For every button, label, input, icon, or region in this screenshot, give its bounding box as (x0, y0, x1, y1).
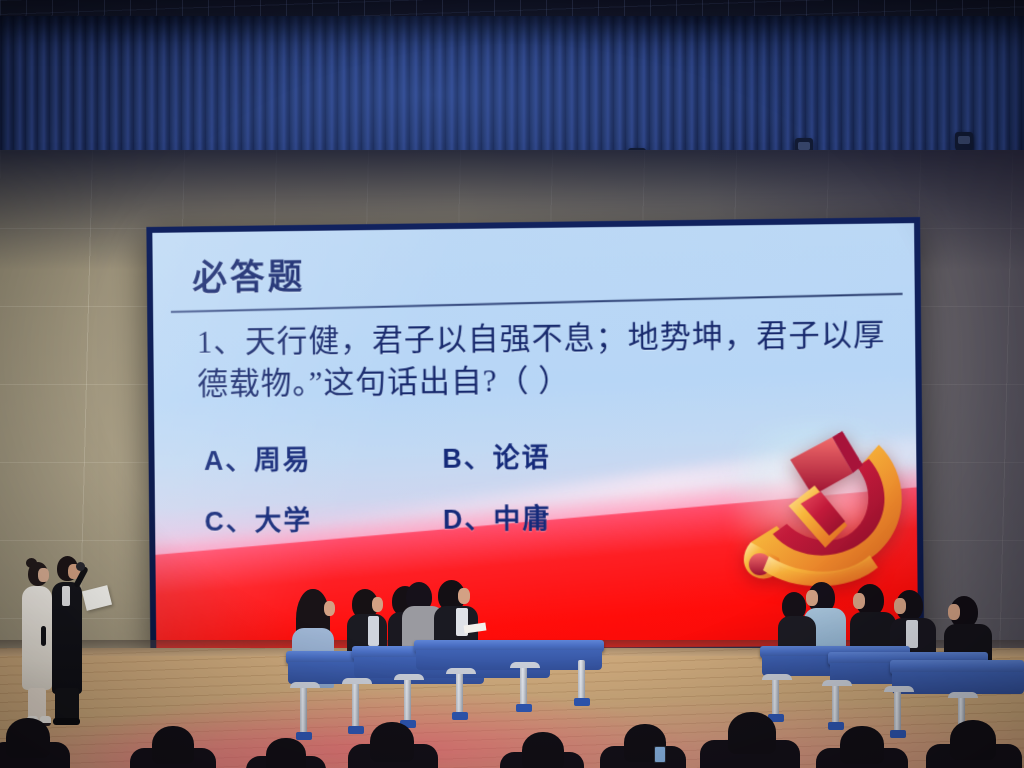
desk-leg (832, 682, 839, 724)
desk-foot (516, 704, 532, 712)
audience-member (152, 726, 194, 764)
desk-foot (296, 732, 312, 740)
option-d: D、中庸 (443, 497, 552, 537)
desk-front (416, 650, 602, 670)
contestant-shirt (368, 616, 379, 646)
desk-foot (828, 722, 844, 730)
audience-member (522, 732, 564, 768)
desk-brace (884, 686, 914, 692)
desk-foot (452, 712, 468, 720)
audience-member (6, 718, 50, 758)
audience-member (266, 738, 306, 768)
audience-member (840, 726, 884, 764)
photo-scene: 必答题 1、天行健，君子以自强不息；地势坤，君子以厚德载物。”这句话出自?（ ）… (0, 0, 1024, 768)
option-c: C、大学 (204, 498, 443, 539)
host-dress (22, 586, 52, 690)
contestant-face (806, 590, 818, 606)
cpc-hammer-sickle-icon (727, 414, 918, 591)
option-a: A、周易 (204, 437, 443, 478)
desk-brace (510, 662, 540, 668)
handheld-microphone (41, 626, 46, 646)
option-c-text: 大学 (254, 506, 312, 536)
desk-leg (772, 676, 779, 716)
desk-leg (578, 660, 585, 700)
desk-leg (300, 684, 307, 734)
contestant-face (948, 604, 960, 620)
desk-brace (342, 678, 372, 684)
desk-leg (894, 688, 901, 732)
desk-foot (574, 698, 590, 706)
contestant-face (458, 588, 470, 604)
host-shirt (62, 586, 70, 606)
desk-brace (762, 674, 792, 680)
slide-title: 必答题 (192, 249, 305, 301)
slide-question: 1、天行健，君子以自强不息；地势坤，君子以厚德载物。”这句话出自?（ ） (197, 314, 898, 406)
option-d-key: D、 (443, 504, 494, 534)
option-d-text: 中庸 (493, 504, 551, 534)
option-c-key: C、 (204, 506, 254, 536)
desk-brace (394, 674, 424, 680)
option-b: B、论语 (442, 436, 551, 476)
smartphone (654, 746, 666, 763)
desk-brace (822, 680, 852, 686)
host-shoes (53, 718, 80, 725)
desk-brace (446, 668, 476, 674)
contestant-face (324, 601, 335, 616)
option-a-text: 周易 (254, 445, 312, 475)
contestant-face (894, 598, 906, 614)
audience-member (370, 722, 414, 762)
option-row: C、大学 D、中庸 (204, 496, 623, 538)
contestant-face (372, 597, 383, 612)
desk-brace (948, 692, 978, 698)
audience-member (950, 720, 996, 760)
option-a-key: A、 (204, 446, 254, 476)
host-face (38, 568, 49, 582)
microphone-head (76, 562, 85, 571)
contestant-face (853, 593, 865, 609)
desk-leg (520, 664, 527, 706)
desk-foot (890, 730, 906, 738)
option-b-text: 论语 (493, 443, 551, 474)
desk-leg (456, 670, 463, 714)
audience-member (728, 712, 776, 754)
led-screen: 必答题 1、天行健，君子以自强不息；地势坤，君子以厚德载物。”这句话出自?（ ）… (152, 223, 918, 650)
slide-options: A、周易 B、论语 C、大学 D、中庸 (204, 435, 623, 560)
desk-leg (352, 680, 359, 728)
option-row: A、周易 B、论语 (204, 435, 623, 478)
desk-foot (348, 726, 364, 734)
desk-leg (404, 676, 411, 722)
desk-brace (290, 682, 320, 688)
contestant-shirt (906, 620, 918, 648)
option-b-key: B、 (442, 443, 493, 473)
